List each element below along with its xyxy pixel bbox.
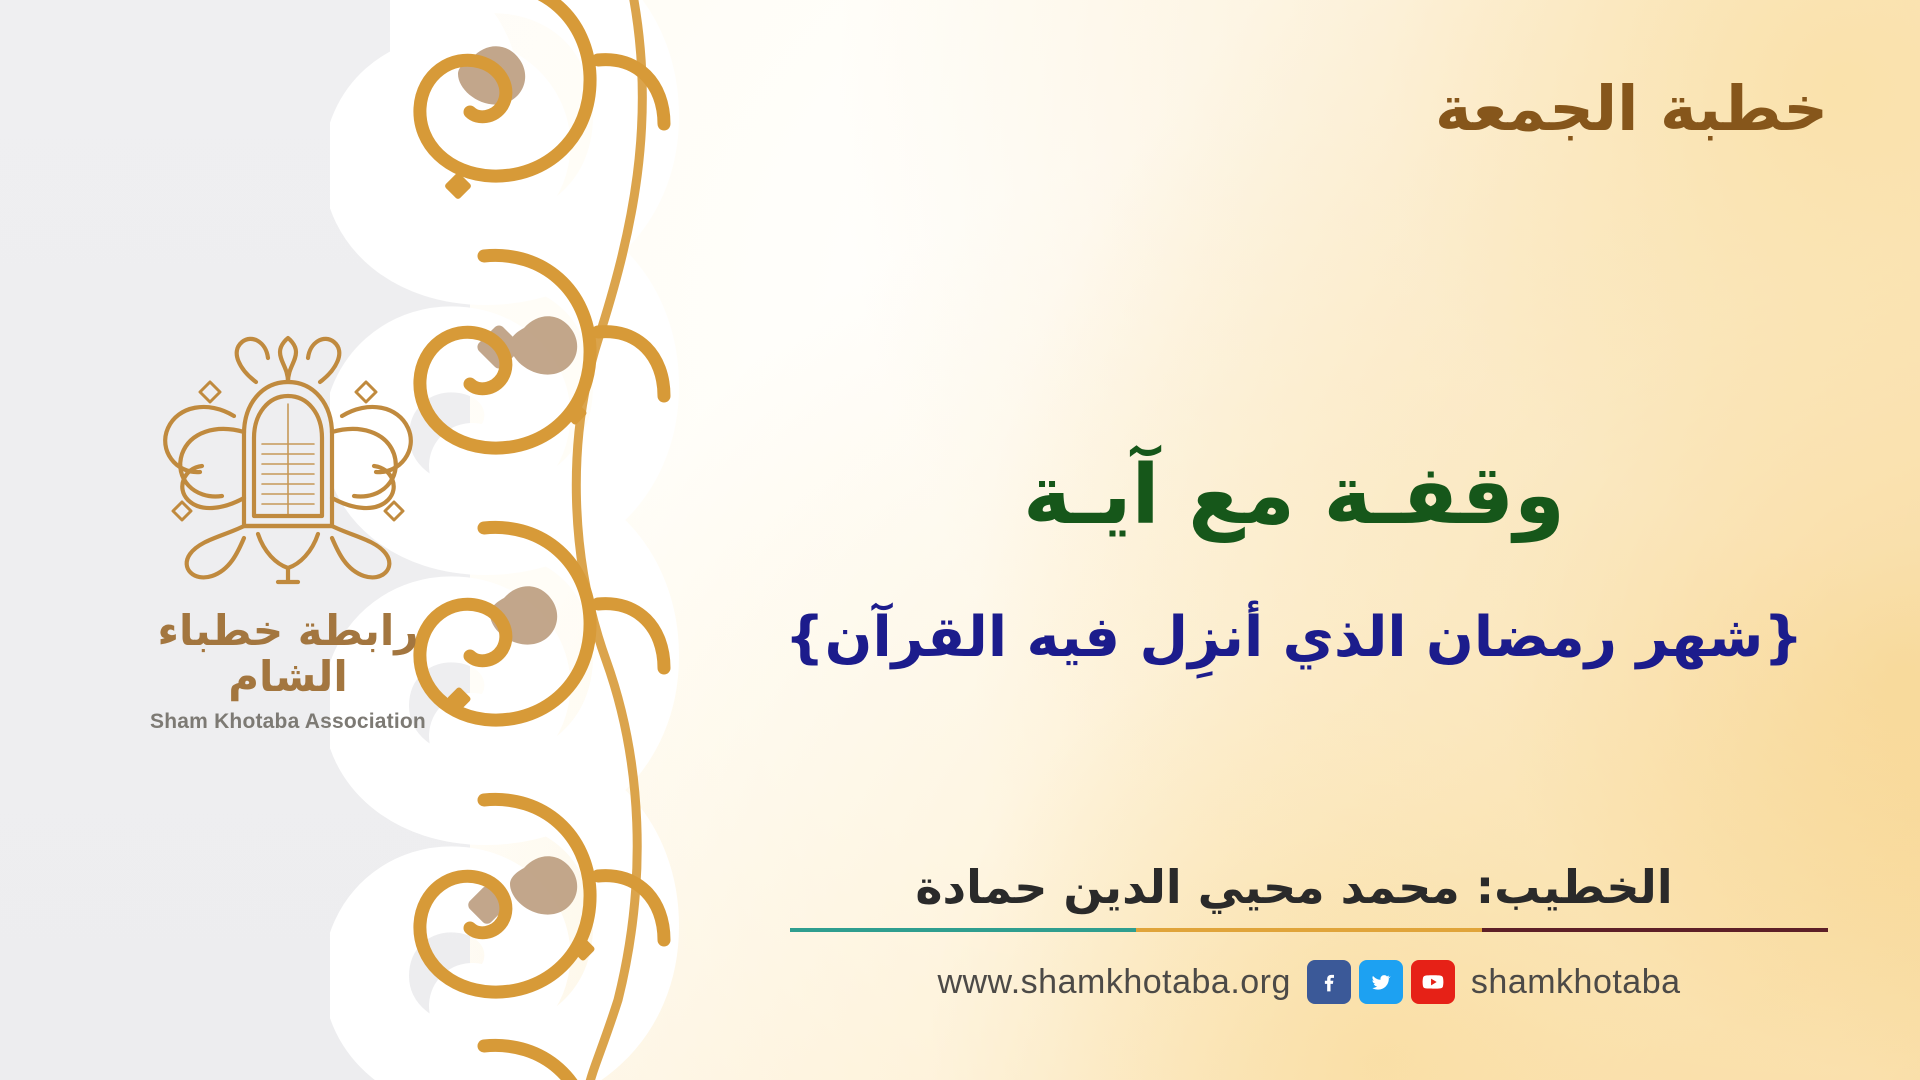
logo-name-arabic: رابطة خطباء الشام xyxy=(108,608,468,700)
khateeb-name: الخطيب: محمد محيي الدين حمادة xyxy=(760,860,1828,914)
facebook-icon[interactable] xyxy=(1307,960,1351,1004)
social-links xyxy=(1307,960,1455,1004)
logo-block: رابطة خطباء الشام Sham Khotaba Associati… xyxy=(108,320,468,734)
sermon-banner: رابطة خطباء الشام Sham Khotaba Associati… xyxy=(0,0,1920,1080)
mosque-arch-ornament-icon xyxy=(138,320,438,600)
footer-row: www.shamkhotaba.org xyxy=(790,954,1828,1010)
logo-name-english: Sham Khotaba Association xyxy=(108,710,468,734)
youtube-icon[interactable] xyxy=(1411,960,1455,1004)
sermon-kicker: خطبة الجمعة xyxy=(1435,72,1828,145)
social-handle[interactable]: shamkhotaba xyxy=(1471,963,1681,1002)
twitter-icon[interactable] xyxy=(1359,960,1403,1004)
footer-rule-gold xyxy=(1136,928,1482,932)
footer-rules xyxy=(790,928,1828,932)
footer-rule-teal xyxy=(790,928,1136,932)
footer-rule-maroon xyxy=(1482,928,1828,932)
quran-verse: {شهر رمضان الذي أنزِل فيه القرآن} xyxy=(760,605,1828,670)
website-url[interactable]: www.shamkhotaba.org xyxy=(937,963,1290,1002)
footer: www.shamkhotaba.org xyxy=(790,928,1828,1018)
page-title: وقفـة مع آيـة xyxy=(760,448,1828,543)
